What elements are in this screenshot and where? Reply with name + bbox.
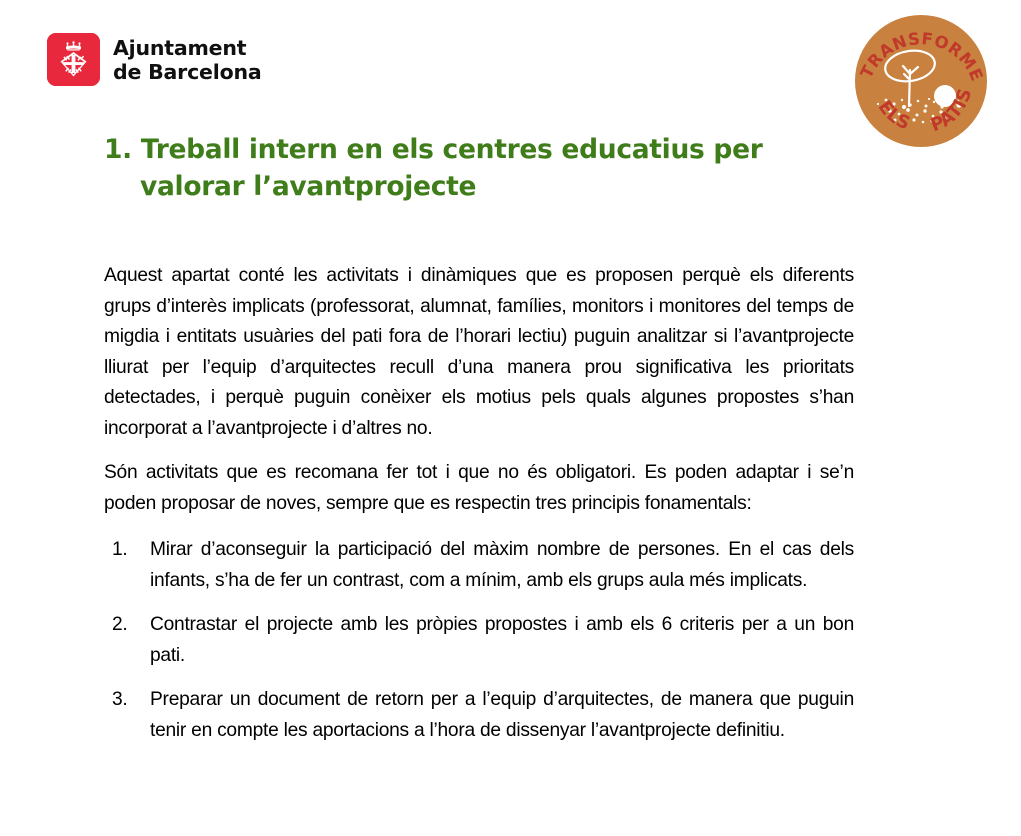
ajuntament-wordmark: Ajuntament de Barcelona xyxy=(113,36,261,84)
intro-paragraph: Aquest apartat conté les activitats i di… xyxy=(104,261,854,444)
barcelona-coat-of-arms-icon xyxy=(47,33,100,86)
transformem-els-patis-badge-icon: TRANSFORMEM ELS PATIS xyxy=(848,8,994,154)
principles-list: Mirar d’aconseguir la participació del m… xyxy=(104,535,854,746)
page-title: 1. Treball intern en els centres educati… xyxy=(104,131,854,205)
ajuntament-brand: Ajuntament de Barcelona xyxy=(47,33,261,86)
list-item: Contrastar el projecte amb les pròpies p… xyxy=(104,610,854,671)
document-body: 1. Treball intern en els centres educati… xyxy=(104,131,854,760)
recommendation-paragraph: Són activitats que es recomana fer tot i… xyxy=(104,458,854,519)
list-item: Preparar un document de retorn per a l’e… xyxy=(104,685,854,746)
list-item: Mirar d’aconseguir la participació del m… xyxy=(104,535,854,596)
